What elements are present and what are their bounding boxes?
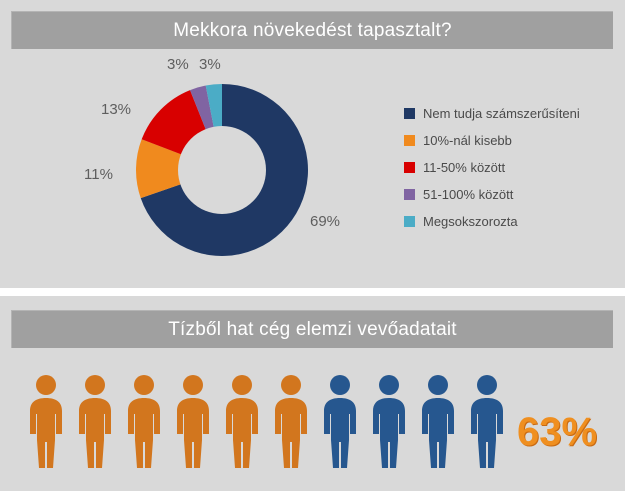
legend-item[interactable]: 11-50% között <box>404 154 619 181</box>
donut-chart-svg <box>136 84 308 256</box>
donut-value-label-4: 3% <box>199 56 221 73</box>
legend-item[interactable]: 51-100% között <box>404 181 619 208</box>
donut-chart <box>136 84 308 256</box>
person-icon <box>320 374 360 468</box>
infographic-root: Mekkora növekedést tapasztalt? 69% 11% 1… <box>0 0 625 491</box>
person-icon <box>418 374 458 468</box>
donut-panel: Mekkora növekedést tapasztalt? 69% 11% 1… <box>0 0 625 288</box>
legend-swatch-icon <box>404 216 415 227</box>
donut-value-label-3: 3% <box>167 56 189 73</box>
donut-panel-title: Mekkora növekedést tapasztalt? <box>173 20 452 42</box>
legend-swatch-icon <box>404 135 415 146</box>
donut-value-label-1: 11% <box>84 166 113 183</box>
people-percent-label: 63% <box>517 410 597 455</box>
person-icon <box>369 374 409 468</box>
donut-value-label-2: 13% <box>101 101 131 118</box>
person-icon <box>222 374 262 468</box>
legend-item-label: 51-100% között <box>423 187 513 202</box>
donut-panel-title-bar: Mekkora növekedést tapasztalt? <box>11 11 613 49</box>
person-icon <box>26 374 66 468</box>
legend-swatch-icon <box>404 162 415 173</box>
legend-item-label: Megsokszorozta <box>423 214 518 229</box>
donut-hole <box>178 126 266 214</box>
people-panel-title: Tízből hat cég elemzi vevőadatait <box>168 319 457 341</box>
person-icon <box>124 374 164 468</box>
person-icon <box>75 374 115 468</box>
donut-value-label-0: 69% <box>310 213 340 230</box>
person-icon <box>467 374 507 468</box>
person-icon <box>173 374 213 468</box>
legend-swatch-icon <box>404 189 415 200</box>
person-icon <box>271 374 311 468</box>
legend-item[interactable]: Nem tudja számszerűsíteni <box>404 100 619 127</box>
legend-item[interactable]: Megsokszorozta <box>404 208 619 235</box>
legend-item-label: 10%-nál kisebb <box>423 133 512 148</box>
legend-item-label: Nem tudja számszerűsíteni <box>423 106 580 121</box>
people-pictogram-row <box>26 374 507 468</box>
legend-swatch-icon <box>404 108 415 119</box>
donut-legend: Nem tudja számszerűsíteni10%-nál kisebb1… <box>404 100 619 235</box>
legend-item[interactable]: 10%-nál kisebb <box>404 127 619 154</box>
legend-item-label: 11-50% között <box>423 160 505 175</box>
people-panel-title-bar: Tízből hat cég elemzi vevőadatait <box>11 310 613 348</box>
